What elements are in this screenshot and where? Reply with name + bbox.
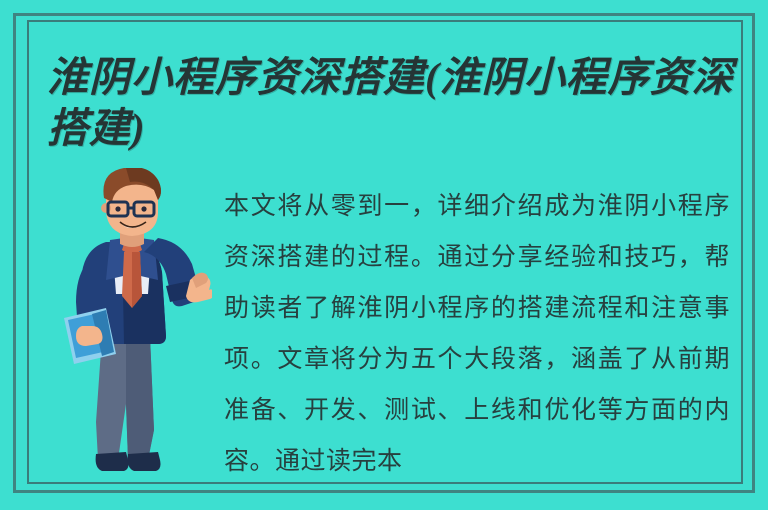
shoe-left-icon — [96, 452, 129, 471]
businessman-figure-svg — [62, 168, 212, 480]
eye-right-icon — [141, 206, 146, 211]
article-body: 本文将从零到一，详细介绍成为淮阴小程序资深搭建的过程。通过分享经验和技巧，帮助读… — [224, 180, 730, 486]
shoe-right-icon — [128, 452, 161, 471]
hand-left-icon — [76, 326, 103, 346]
poster-canvas: 淮阴小程序资深搭建(淮阴小程序资深搭建) — [0, 0, 768, 510]
page-title: 淮阴小程序资深搭建(淮阴小程序资深搭建) — [47, 52, 737, 154]
eye-left-icon — [115, 206, 120, 211]
illustration-businessman — [62, 168, 212, 480]
trousers-shadow-icon — [126, 336, 154, 460]
